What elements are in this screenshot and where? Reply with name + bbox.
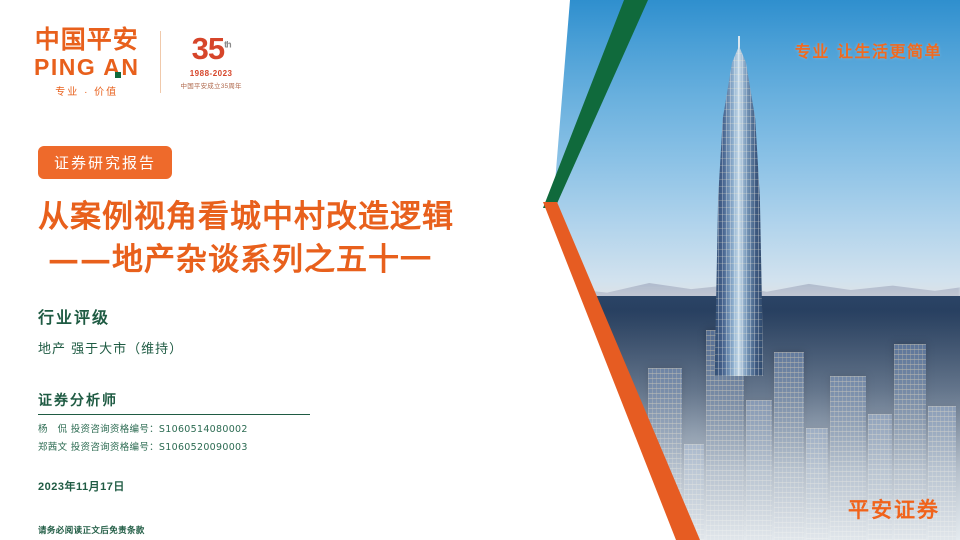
title-line-1: 从案例视角看城中村改造逻辑: [38, 199, 454, 235]
anniversary-years: 1988-2023: [190, 69, 233, 78]
disclaimer-note: 请务必阅读正文后免责条款: [38, 524, 145, 536]
anniversary-number-text: 35: [192, 31, 224, 66]
analyst-divider: [38, 414, 310, 415]
page-title: 从案例视角看城中村改造逻辑 ——地产杂谈系列之五十一: [38, 196, 538, 282]
pingan-wordmark: 中国平安 PING AN 专业 · 价值: [34, 26, 140, 98]
title-line-2: ——地产杂谈系列之五十一: [38, 239, 538, 282]
analyst-row: 杨 侃 投资咨询资格编号：S1060514080002: [38, 421, 248, 435]
anniversary-badge: 35th 1988-2023 中国平安成立35周年: [181, 33, 242, 90]
report-cover: 中国平安 PING AN 专业 · 价值 35th 1988-2023 中国平安…: [0, 0, 960, 540]
logo-green-square-icon: [115, 72, 121, 78]
anniversary-subtitle: 中国平安成立35周年: [181, 80, 242, 90]
anniversary-superscript: th: [224, 40, 231, 50]
logo-english-name: PING AN: [34, 55, 140, 79]
rating-value: 地产 强于大市（维持）: [38, 338, 183, 357]
logo-chinese-name: 中国平安: [35, 26, 139, 54]
brand-name-bottom: 平安证券: [848, 494, 940, 524]
logo-slogan: 专业 · 价值: [55, 83, 118, 98]
rating-heading: 行业评级: [38, 304, 110, 328]
analyst-heading: 证券分析师: [38, 390, 118, 410]
report-type-badge: 证券研究报告: [38, 146, 172, 179]
analyst-row: 郑茜文 投资咨询资格编号：S1060520090003: [38, 439, 248, 453]
pingan-logo: 中国平安 PING AN 专业 · 价值 35th 1988-2023 中国平安…: [34, 26, 242, 98]
brand-tagline: 专业 让生活更简单: [795, 38, 942, 62]
report-date: 2023年11月17日: [38, 478, 125, 494]
cover-photo: [540, 0, 960, 540]
anniversary-number: 35th: [192, 33, 231, 64]
logo-english-text: PING AN: [34, 54, 140, 80]
logo-divider: [160, 31, 161, 93]
